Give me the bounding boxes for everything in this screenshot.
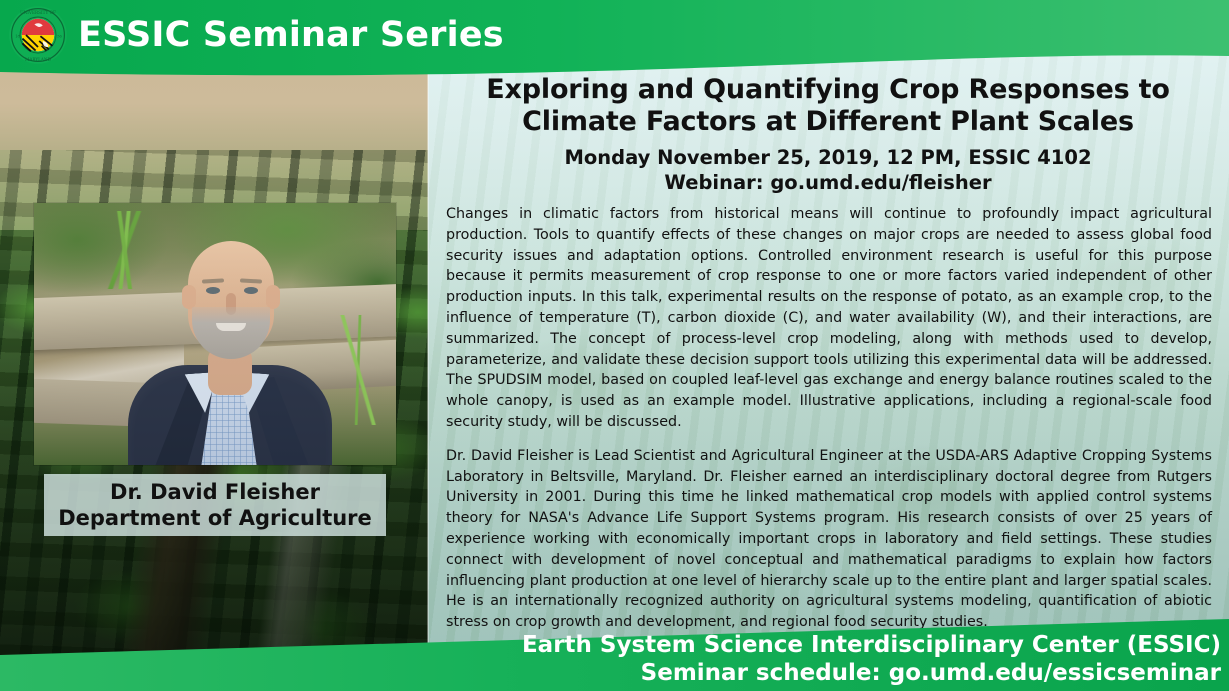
umd-seal-icon: UNIVERSITY OF MARYLAND 18 56 bbox=[8, 5, 68, 65]
svg-text:MARYLAND: MARYLAND bbox=[25, 57, 52, 62]
abstract-paragraph: Changes in climatic factors from histori… bbox=[446, 204, 1212, 433]
speaker-nameplate: Dr. David Fleisher Department of Agricul… bbox=[44, 474, 386, 536]
abstract-block: Changes in climatic factors from histori… bbox=[446, 204, 1212, 646]
speaker-portrait bbox=[34, 203, 396, 465]
talk-datetime: Monday November 25, 2019, 12 PM, ESSIC 4… bbox=[448, 146, 1208, 171]
footer-organization: Earth System Science Interdisciplinary C… bbox=[522, 631, 1221, 659]
talk-schedule-block: Monday November 25, 2019, 12 PM, ESSIC 4… bbox=[448, 146, 1208, 196]
brand-title: ESSIC Seminar Series bbox=[78, 18, 504, 53]
seminar-poster: Exploring and Quantifying Crop Responses… bbox=[0, 0, 1229, 691]
svg-text:18: 18 bbox=[15, 34, 20, 38]
panel-divider bbox=[427, 0, 429, 691]
talk-content: Exploring and Quantifying Crop Responses… bbox=[428, 0, 1229, 691]
svg-text:UNIVERSITY OF: UNIVERSITY OF bbox=[20, 10, 56, 15]
speaker-name: Dr. David Fleisher bbox=[110, 479, 320, 505]
footer-green-band: Earth System Science Interdisciplinary C… bbox=[0, 601, 1229, 691]
svg-text:56: 56 bbox=[57, 34, 62, 38]
portrait-tone-overlay bbox=[34, 203, 396, 465]
brand-header: UNIVERSITY OF MARYLAND 18 56 ESSIC Semin… bbox=[0, 0, 504, 70]
footer-text-block: Earth System Science Interdisciplinary C… bbox=[522, 631, 1221, 687]
footer-schedule-link[interactable]: Seminar schedule: go.umd.edu/essicsemina… bbox=[522, 659, 1221, 687]
speaker-affiliation: Department of Agriculture bbox=[58, 505, 372, 531]
content-panel-background: Exploring and Quantifying Crop Responses… bbox=[428, 0, 1229, 691]
talk-webinar-link[interactable]: Webinar: go.umd.edu/fleisher bbox=[448, 171, 1208, 196]
talk-title: Exploring and Quantifying Crop Responses… bbox=[448, 74, 1208, 138]
